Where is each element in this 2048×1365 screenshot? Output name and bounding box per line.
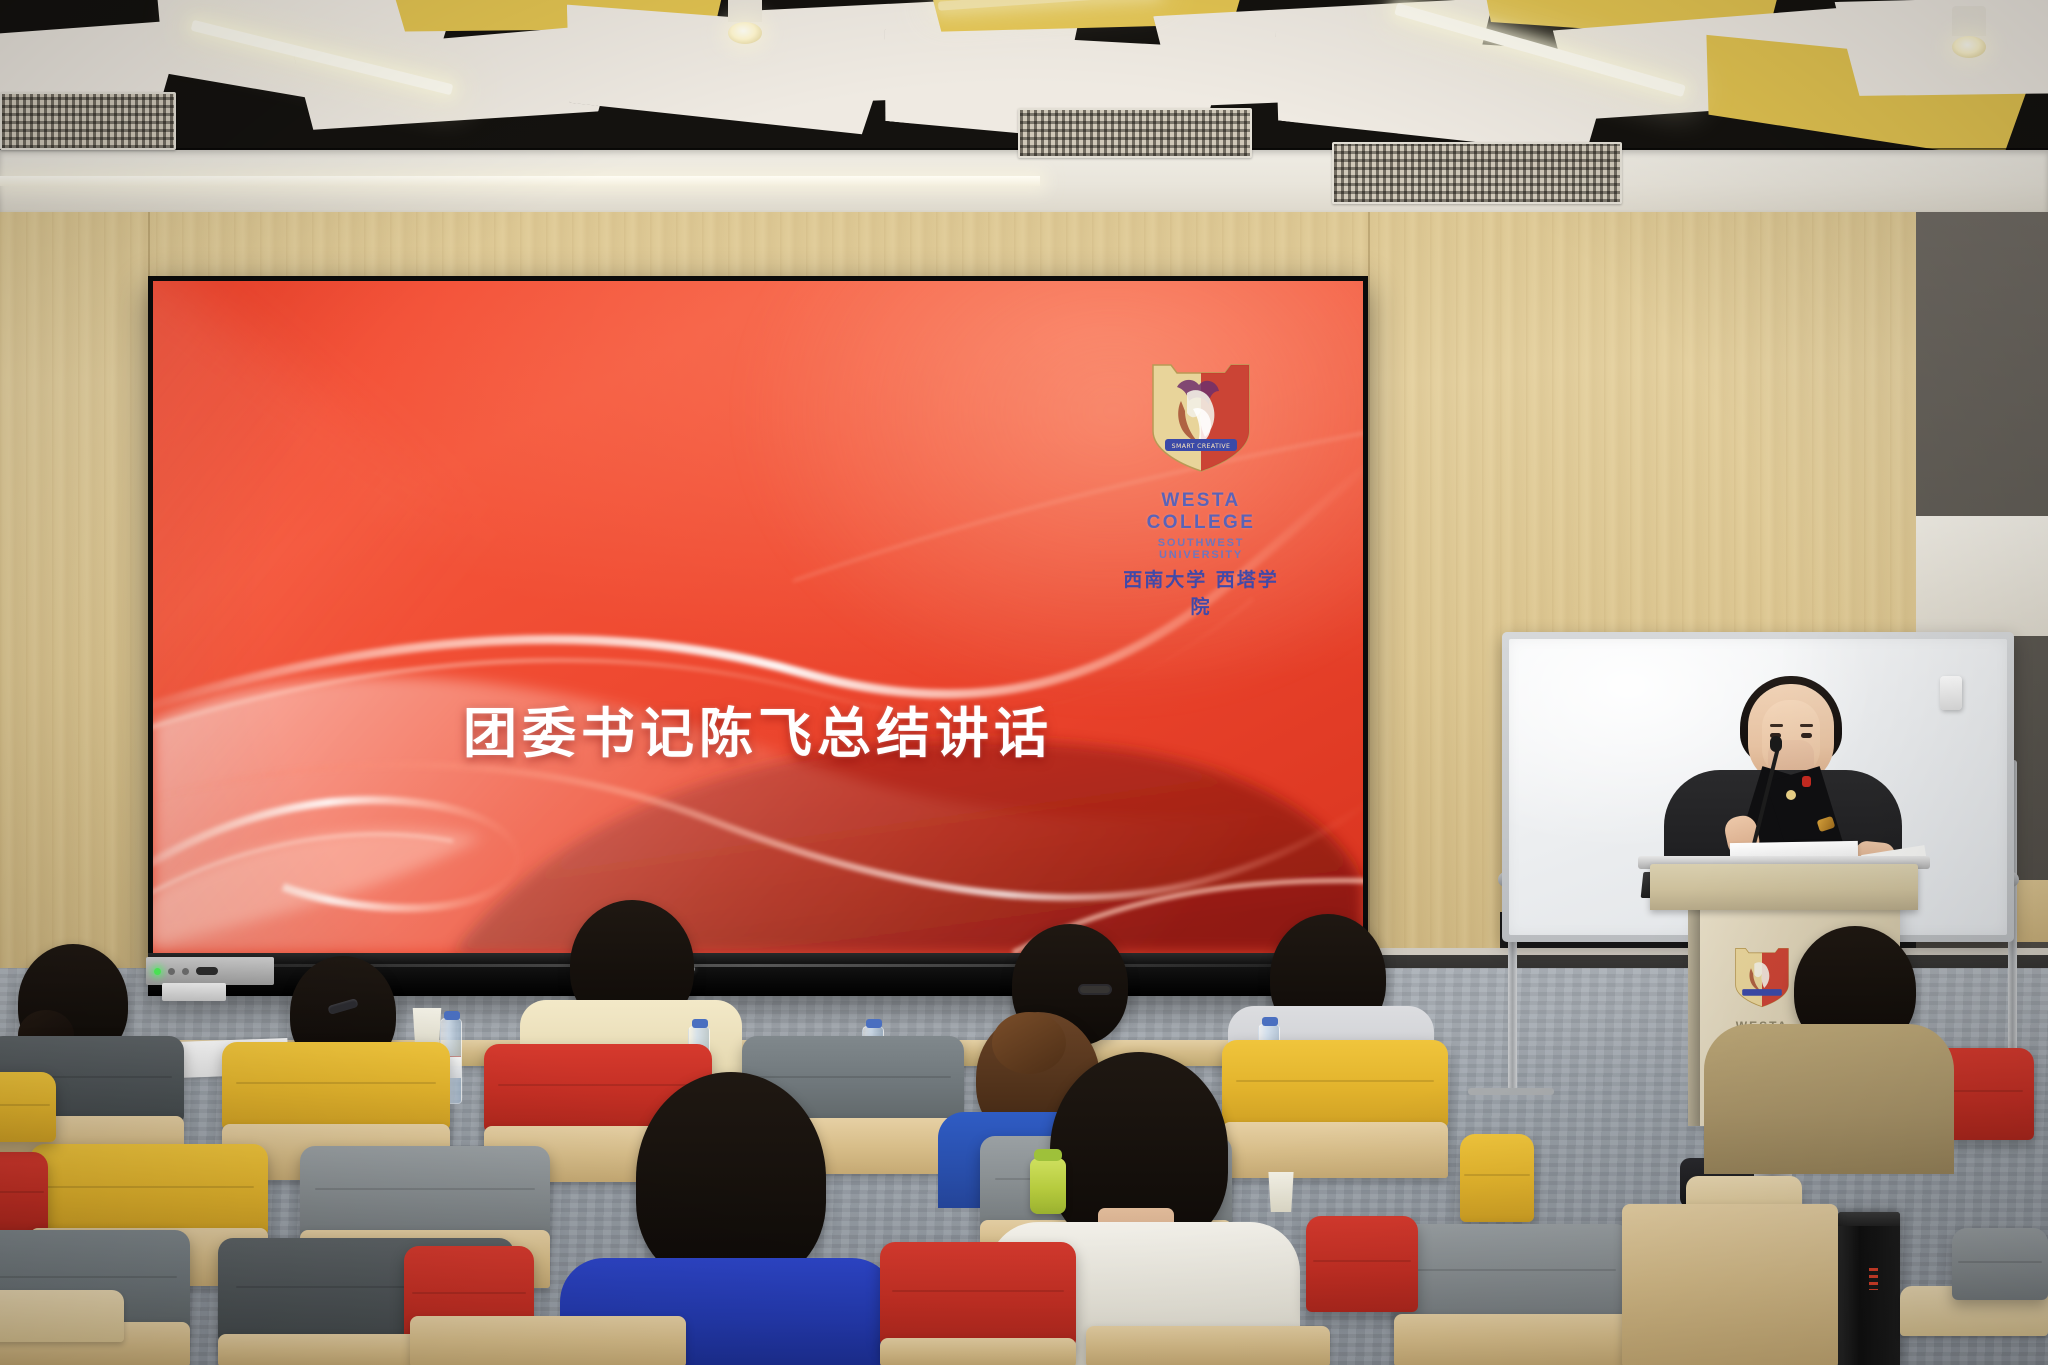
seat-red[interactable] <box>1306 1216 1418 1312</box>
floor-speaker-post[interactable] <box>1838 1212 1900 1365</box>
seat-gray[interactable] <box>300 1146 550 1238</box>
menu-button[interactable] <box>182 968 189 975</box>
microphone-head-icon <box>1770 736 1782 752</box>
status-led-indicator <box>1869 1268 1878 1290</box>
led-display-wall[interactable]: SMART CREATIVE WESTA COLLEGE SOUTHWEST U… <box>148 276 1368 996</box>
speaker-post-cap <box>1838 1212 1900 1226</box>
seat-yellow[interactable] <box>222 1042 450 1130</box>
power-led-icon <box>154 968 161 975</box>
seat-wood-back <box>1222 1122 1448 1178</box>
crest-line-2: SOUTHWEST UNIVERSITY <box>1117 537 1285 561</box>
downlight-housing <box>1952 6 1986 36</box>
westa-shield-icon-small <box>1731 944 1793 1010</box>
green-sport-bottle[interactable] <box>1030 1158 1066 1214</box>
slide-crest: SMART CREATIVE WESTA COLLEGE SOUTHWEST U… <box>1117 357 1285 619</box>
seat-wood-back <box>880 1338 1076 1365</box>
crest-line-3: 西南大学 西塔学院 <box>1117 565 1285 619</box>
seat-red[interactable] <box>0 1152 48 1236</box>
hvac-grille <box>1332 142 1622 204</box>
seat-wood-back <box>1622 1204 1838 1365</box>
hvac-grille <box>0 92 176 150</box>
presentation-slide: SMART CREATIVE WESTA COLLEGE SOUTHWEST U… <box>153 281 1363 953</box>
seat-gray[interactable] <box>1952 1228 2048 1300</box>
slide-title: 团委书记陈飞总结讲话 <box>153 689 1363 768</box>
audience-hair-bun <box>992 1012 1066 1074</box>
cove-light <box>0 176 1040 186</box>
seat-wood-back <box>410 1316 686 1365</box>
crest-line-1: WESTA COLLEGE <box>1117 490 1285 534</box>
downlight-icon <box>1952 36 1986 58</box>
downlight-housing <box>728 0 762 22</box>
speaker-necklace <box>1786 790 1796 800</box>
wall-ledge <box>1916 516 2048 636</box>
downlight-icon <box>728 22 762 44</box>
seat-wood-back <box>1086 1326 1330 1365</box>
wall-base-trim <box>1300 948 2048 955</box>
paper-cup[interactable] <box>1266 1172 1296 1212</box>
seat-yellow[interactable] <box>30 1144 268 1236</box>
seat-armrest <box>0 1290 124 1342</box>
speaker-eye-right <box>1801 733 1812 738</box>
svg-text:SMART CREATIVE: SMART CREATIVE <box>1172 443 1231 450</box>
whiteboard-eraser[interactable] <box>1940 676 1962 710</box>
seat-yellow[interactable] <box>0 1072 56 1142</box>
speaker-brow-left <box>1770 724 1783 727</box>
speaker-clip-microphone <box>1802 776 1811 787</box>
hvac-grille <box>1018 108 1252 158</box>
westa-shield-icon: SMART CREATIVE <box>1147 357 1255 477</box>
audience-head-foreground <box>636 1072 826 1284</box>
display-sub-panel[interactable] <box>162 983 226 1001</box>
speaker-brow-right <box>1800 724 1813 727</box>
source-button[interactable] <box>168 968 175 975</box>
wall-seam <box>1368 212 1370 972</box>
seat-yellow[interactable] <box>1222 1040 1448 1128</box>
seat-gray[interactable] <box>1394 1224 1630 1322</box>
whiteboard-foot-left <box>1468 1088 1554 1095</box>
seat-yellow[interactable] <box>1460 1134 1534 1222</box>
lectern-reading-surface <box>1650 864 1918 910</box>
eyeglasses <box>1078 984 1112 995</box>
ir-receiver-icon <box>196 967 218 975</box>
audience-torso <box>1704 1024 1954 1174</box>
seat-wood-back <box>1394 1314 1630 1365</box>
seat-red[interactable] <box>880 1242 1076 1346</box>
display-control-panel[interactable] <box>146 957 274 985</box>
lecture-hall-scene: SMART CREATIVE WESTA COLLEGE SOUTHWEST U… <box>0 0 2048 1365</box>
